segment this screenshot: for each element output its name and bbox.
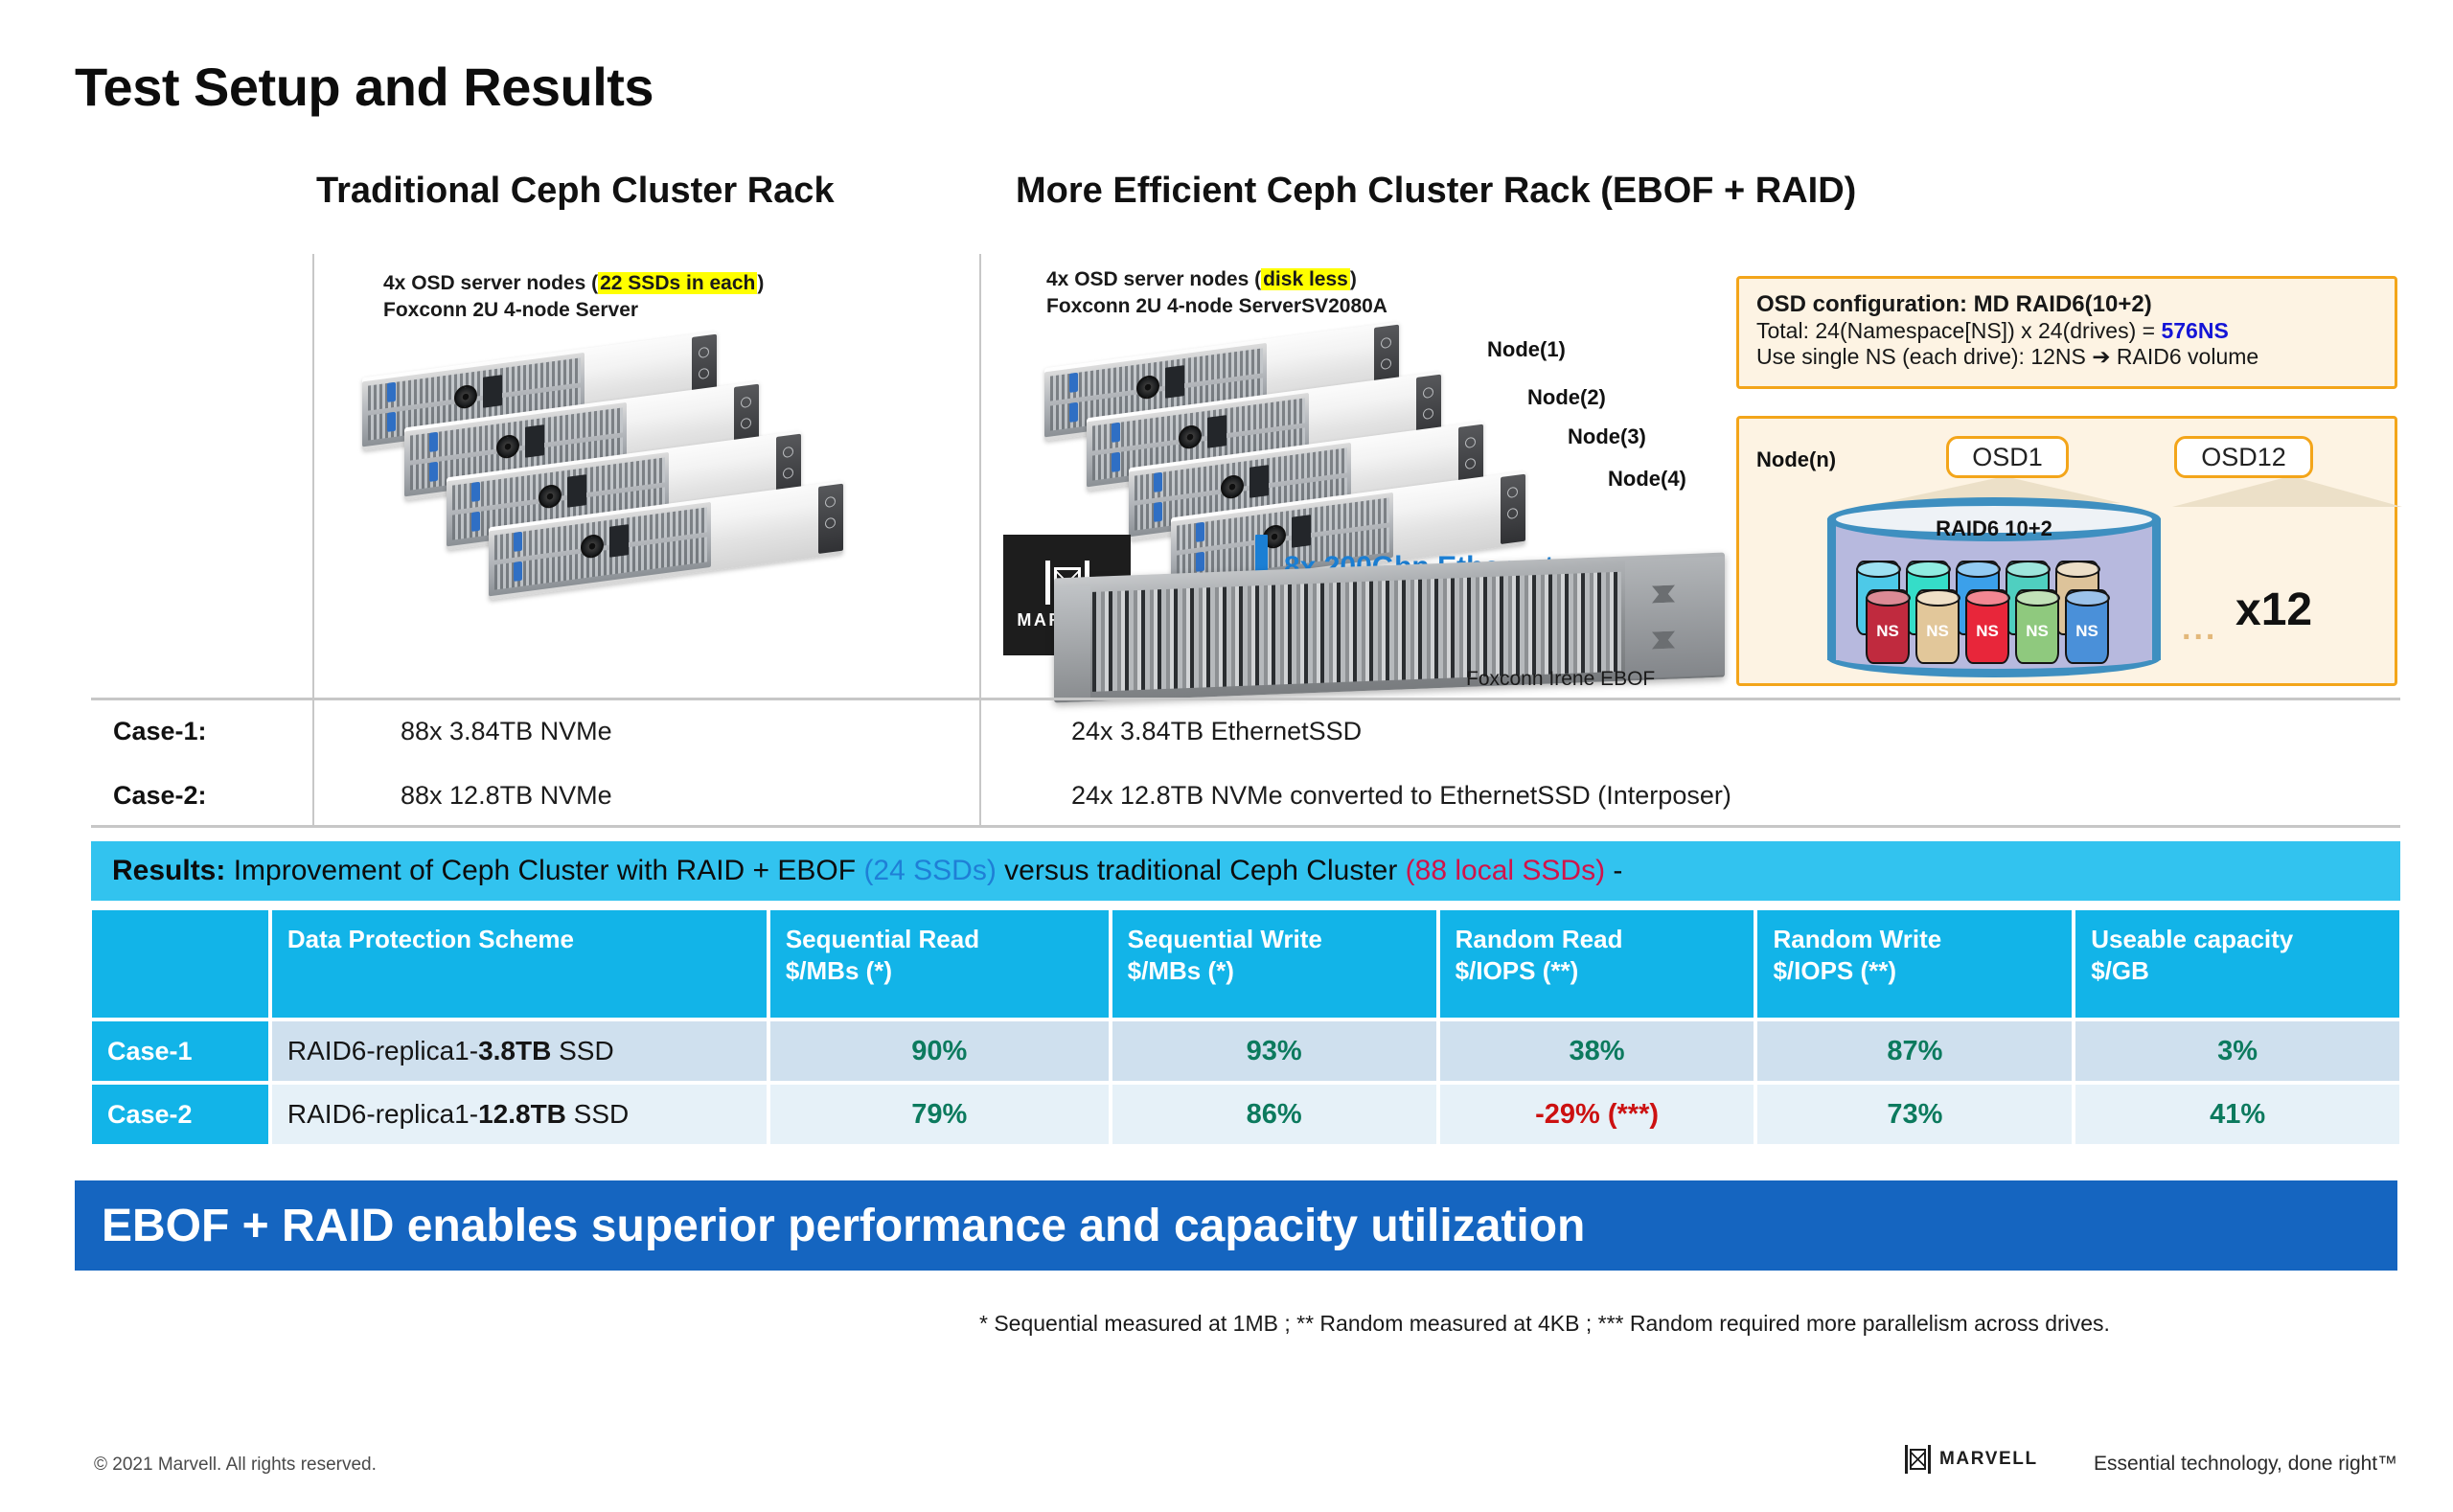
ebof-left-ear	[1054, 586, 1090, 699]
node-label-1: Node(1)	[1487, 337, 1566, 362]
namespace-cylinder: NS	[2065, 589, 2109, 664]
left-caption-prefix: 4x OSD server nodes (	[383, 272, 598, 294]
header-useable-capacity: Useable capacity $/GB	[2075, 910, 2399, 1018]
header-sequential-read: Sequential Read $/MBs (*)	[770, 910, 1109, 1018]
cell-random-read: 38%	[1440, 1021, 1754, 1081]
node-label-4: Node(4)	[1608, 467, 1686, 492]
osd12-fan-connector	[2172, 478, 2402, 507]
node-label-3: Node(3)	[1568, 424, 1646, 449]
conclusion-banner: EBOF + RAID enables superior performance…	[75, 1180, 2397, 1271]
results-part2: versus traditional Ceph Cluster	[997, 855, 1406, 886]
results-banner-text: Results: Improvement of Ceph Cluster wit…	[91, 855, 1622, 887]
left-panel-caption: 4x OSD server nodes (22 SSDs in each) Fo…	[383, 270, 764, 323]
header-random-write: Random Write $/IOPS (**)	[1757, 910, 2072, 1018]
marvell-mark-icon	[1905, 1445, 1931, 1474]
osd-config-total-value: 576NS	[2161, 318, 2228, 343]
results-lead: Results:	[112, 855, 225, 886]
case-1-label: Case-1:	[113, 717, 207, 746]
cell-sequential-write: 93%	[1112, 1021, 1436, 1081]
node-label-2: Node(2)	[1527, 385, 1606, 410]
row-case-label: Case-2	[92, 1085, 268, 1144]
case-table-divider-2	[979, 254, 981, 826]
traditional-server-stack	[362, 345, 937, 575]
row-scheme: RAID6-replica1-3.8TB SSD	[272, 1021, 767, 1081]
raid6-volume-label: RAID6 10+2	[1827, 516, 2161, 541]
right-caption-prefix: 4x OSD server nodes (	[1046, 268, 1261, 290]
raid-ellipsis: ...	[2182, 610, 2217, 648]
right-panel-caption: 4x OSD server nodes (disk less) Foxconn …	[1046, 266, 1387, 319]
cell-random-write: 87%	[1757, 1021, 2072, 1081]
namespace-cylinder: NS	[2015, 589, 2059, 664]
footer-tagline: Essential technology, done right™	[2094, 1453, 2397, 1476]
right-caption-suffix: )	[1350, 268, 1357, 290]
osd-config-single-ns: Use single NS (each drive): 12NS ➔ RAID6…	[1756, 344, 2377, 370]
results-ssd-count-old: (88 local SSDs)	[1406, 855, 1605, 886]
left-caption-suffix: )	[757, 272, 764, 294]
osd-configuration-box: OSD configuration: MD RAID6(10+2) Total:…	[1736, 276, 2397, 389]
ebof-label: Foxconn Irene EBOF	[1466, 668, 1655, 691]
ebof-right-panel	[1625, 557, 1725, 679]
cell-random-write: 73%	[1757, 1085, 2072, 1144]
namespace-cylinder: NS	[1965, 589, 2009, 664]
left-caption-line2: Foxconn 2U 4-node Server	[383, 297, 764, 324]
header-data-protection-scheme: Data Protection Scheme	[272, 910, 767, 1018]
right-caption-highlight: disk less	[1261, 268, 1350, 290]
left-column-heading: Traditional Ceph Cluster Rack	[316, 171, 835, 212]
left-caption-highlight: 22 SSDs in each	[598, 272, 757, 294]
page-title: Test Setup and Results	[75, 56, 653, 118]
namespace-cylinder: NS	[1866, 589, 1910, 664]
conclusion-banner-text: EBOF + RAID enables superior performance…	[75, 1200, 1585, 1252]
header-blank	[92, 910, 268, 1018]
results-banner: Results: Improvement of Ceph Cluster wit…	[91, 841, 2400, 901]
results-part3: -	[1605, 855, 1622, 886]
case-2-right-value: 24x 12.8TB NVMe converted to EthernetSSD…	[1071, 781, 1731, 811]
results-table: Data Protection Scheme Sequential Read $…	[88, 906, 2403, 1148]
cell-sequential-read: 90%	[770, 1021, 1109, 1081]
ebof-server-stack	[1044, 335, 1639, 575]
row-case-label: Case-1	[92, 1021, 268, 1081]
case-1-right-value: 24x 3.84TB EthernetSSD	[1071, 717, 1362, 746]
raid6-volume-cylinder: RAID6 10+2 NS NS NS NS NS NS NS NS NS NS	[1827, 497, 2161, 677]
header-sequential-write: Sequential Write $/MBs (*)	[1112, 910, 1436, 1018]
namespace-cylinder: NS	[1915, 589, 1960, 664]
case-table-bottom-rule	[91, 825, 2400, 828]
header-random-read: Random Read $/IOPS (**)	[1440, 910, 1754, 1018]
slide-root: Test Setup and Results Traditional Ceph …	[0, 0, 2453, 1512]
results-part1: Improvement of Ceph Cluster with RAID + …	[225, 855, 863, 886]
copyright-text: © 2021 Marvell. All rights reserved.	[94, 1455, 377, 1476]
raid-node-label: Node(n)	[1756, 447, 1836, 472]
results-ssd-count-new: (24 SSDs)	[863, 855, 996, 886]
case-table-top-rule	[91, 698, 2400, 700]
case-table-divider-1	[312, 254, 314, 826]
osd-config-total: Total: 24(Namespace[NS]) x 24(drives) = …	[1756, 318, 2377, 344]
osd12-pill: OSD12	[2174, 436, 2313, 478]
row-scheme: RAID6-replica1-12.8TB SSD	[272, 1085, 767, 1144]
raid-multiplier: x12	[2235, 584, 2312, 636]
osd-config-title: OSD configuration: MD RAID6(10+2)	[1756, 291, 2377, 318]
cell-random-read: -29% (***)	[1440, 1085, 1754, 1144]
cell-useable-capacity: 41%	[2075, 1085, 2399, 1144]
footer-marvell-logo: MARVELL	[1905, 1445, 2038, 1474]
case-2-label: Case-2:	[113, 781, 207, 811]
results-table-header-row: Data Protection Scheme Sequential Read $…	[92, 910, 2399, 1018]
right-caption-line2: Foxconn 2U 4-node ServerSV2080A	[1046, 293, 1387, 320]
osd1-pill: OSD1	[1946, 436, 2069, 478]
footnote: * Sequential measured at 1MB ; ** Random…	[979, 1311, 2110, 1337]
cell-useable-capacity: 3%	[2075, 1021, 2399, 1081]
marvell-wordmark: MARVELL	[1939, 1449, 2038, 1470]
raid-diagram-box: Node(n) OSD1 OSD12 RAID6 10+2 NS NS NS N…	[1736, 416, 2397, 686]
cell-sequential-write: 86%	[1112, 1085, 1436, 1144]
table-row: Case-2 RAID6-replica1-12.8TB SSD 79% 86%…	[92, 1085, 2399, 1144]
cell-sequential-read: 79%	[770, 1085, 1109, 1144]
right-column-heading: More Efficient Ceph Cluster Rack (EBOF +…	[1016, 171, 1856, 212]
case-1-left-value: 88x 3.84TB NVMe	[401, 717, 612, 746]
table-row: Case-1 RAID6-replica1-3.8TB SSD 90% 93% …	[92, 1021, 2399, 1081]
case-2-left-value: 88x 12.8TB NVMe	[401, 781, 612, 811]
